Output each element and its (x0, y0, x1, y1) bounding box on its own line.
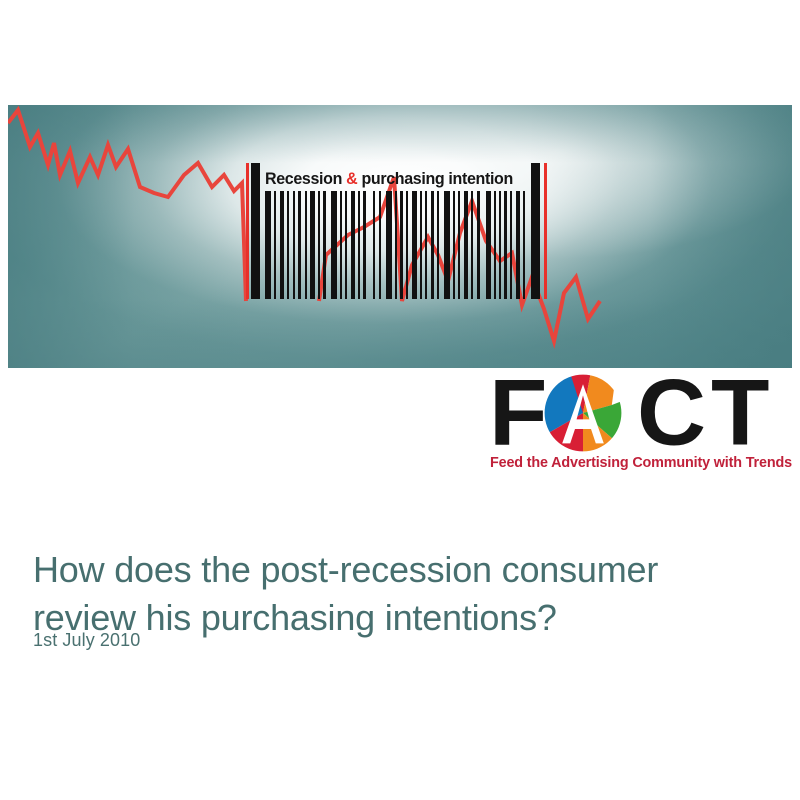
barcode-label-ampersand: & (346, 170, 357, 188)
barcode-label-part2: purchasing intention (357, 170, 513, 188)
fact-logo: F (489, 371, 789, 479)
barcode-bar (251, 163, 260, 299)
logo-tagline: Feed the Advertising Community with Tren… (490, 455, 787, 471)
barcode-guard-right (544, 163, 547, 299)
barcode-label-part1: Recession (265, 170, 346, 188)
colorful-a-mark (543, 373, 623, 453)
logo-letter-f: F (489, 371, 545, 455)
barcode-guard-left (246, 163, 249, 299)
barcode-bar-right (531, 163, 540, 299)
page-title: How does the post-recession consumer rev… (33, 546, 753, 642)
slide-date: 1st July 2010 (33, 628, 140, 652)
page-title-line-2: review his purchasing intentions? (33, 594, 753, 642)
barcode-label: Recession & purchasing intention (265, 168, 525, 190)
trend-line-left (8, 110, 246, 301)
fact-logo-wordmark: F (489, 371, 789, 453)
logo-letter-c: C (637, 371, 704, 455)
logo-letter-t: T (711, 371, 767, 455)
page-title-line-1: How does the post-recession consumer (33, 546, 753, 594)
barcode-graphic: Recession & purchasing intention (243, 163, 553, 299)
title-slide: Recession & purchasing intention F (0, 0, 800, 800)
